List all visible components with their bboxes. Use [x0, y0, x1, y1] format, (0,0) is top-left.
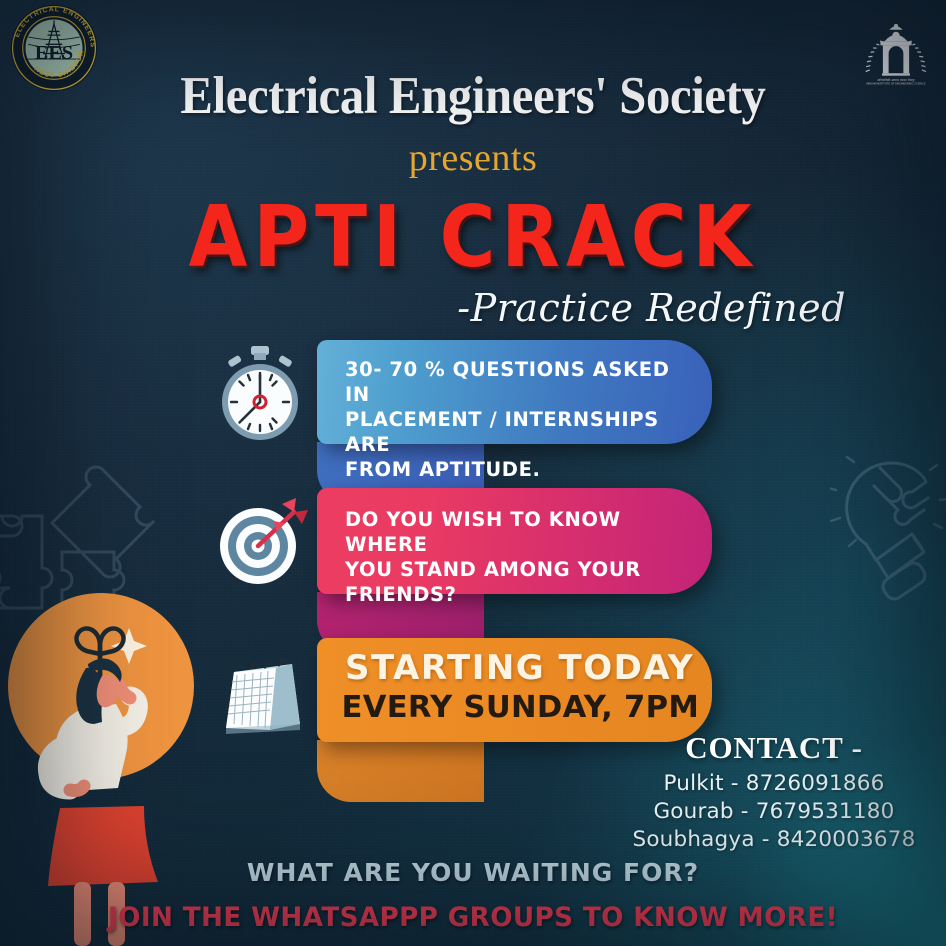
calendar-icon	[204, 646, 316, 742]
contact-heading: CONTACT -	[624, 730, 924, 766]
svg-text:EES: EES	[35, 42, 73, 64]
banner-line: DO YOU WISH TO KNOW WHERE	[345, 507, 678, 557]
contact-person: Soubhagya - 8420003678	[624, 826, 924, 854]
banner-tail	[317, 740, 484, 802]
banner-line: 30- 70 % QUESTIONS ASKED IN	[345, 357, 678, 407]
target-dart-icon	[208, 490, 312, 594]
page-title: Electrical Engineers' Society	[38, 66, 908, 126]
event-tagline: -Practice Redefined	[457, 286, 846, 330]
banner-text: 30- 70 % QUESTIONS ASKED IN PLACEMENT / …	[345, 357, 678, 482]
banner-text: DO YOU WISH TO KNOW WHERE YOU STAND AMON…	[345, 507, 678, 607]
event-title: APTI CRACK	[0, 187, 946, 287]
contact-person: Pulkit - 8726091866	[624, 770, 924, 798]
footer-question: WHAT ARE YOU WAITING FOR?	[0, 858, 946, 887]
banner-line: FROM APTITUDE.	[345, 457, 678, 482]
banner-line: FRIENDS?	[345, 582, 678, 607]
woman-with-lightbulb-illustration	[4, 576, 219, 946]
stopwatch-icon	[208, 342, 312, 446]
banner-compare-friends: DO YOU WISH TO KNOW WHERE YOU STAND AMON…	[317, 488, 712, 594]
contact-block: CONTACT - Pulkit - 8726091866 Gourab - 7…	[624, 730, 924, 854]
schedule-subline: EVERY SUNDAY, 7PM	[341, 690, 699, 725]
banner-line: PLACEMENT / INTERNSHIPS ARE	[345, 407, 678, 457]
footer-call-to-action: JOIN THE WHATSAPPP GROUPS TO KNOW MORE!	[14, 902, 932, 933]
poster-canvas: EES ELECTRICAL ENGINEERS' SOCIETY IIEST …	[0, 0, 946, 946]
banner-aptitude-stat: 30- 70 % QUESTIONS ASKED IN PLACEMENT / …	[317, 340, 712, 444]
contact-person: Gourab - 7679531180	[624, 798, 924, 826]
info-banner-row-1: 30- 70 % QUESTIONS ASKED IN PLACEMENT / …	[0, 336, 946, 486]
schedule-headline: STARTING TODAY	[345, 648, 694, 688]
banner-line: YOU STAND AMONG YOUR	[345, 557, 678, 582]
banner-schedule: STARTING TODAY EVERY SUNDAY, 7PM	[317, 638, 712, 742]
presents-label: presents	[0, 136, 946, 180]
